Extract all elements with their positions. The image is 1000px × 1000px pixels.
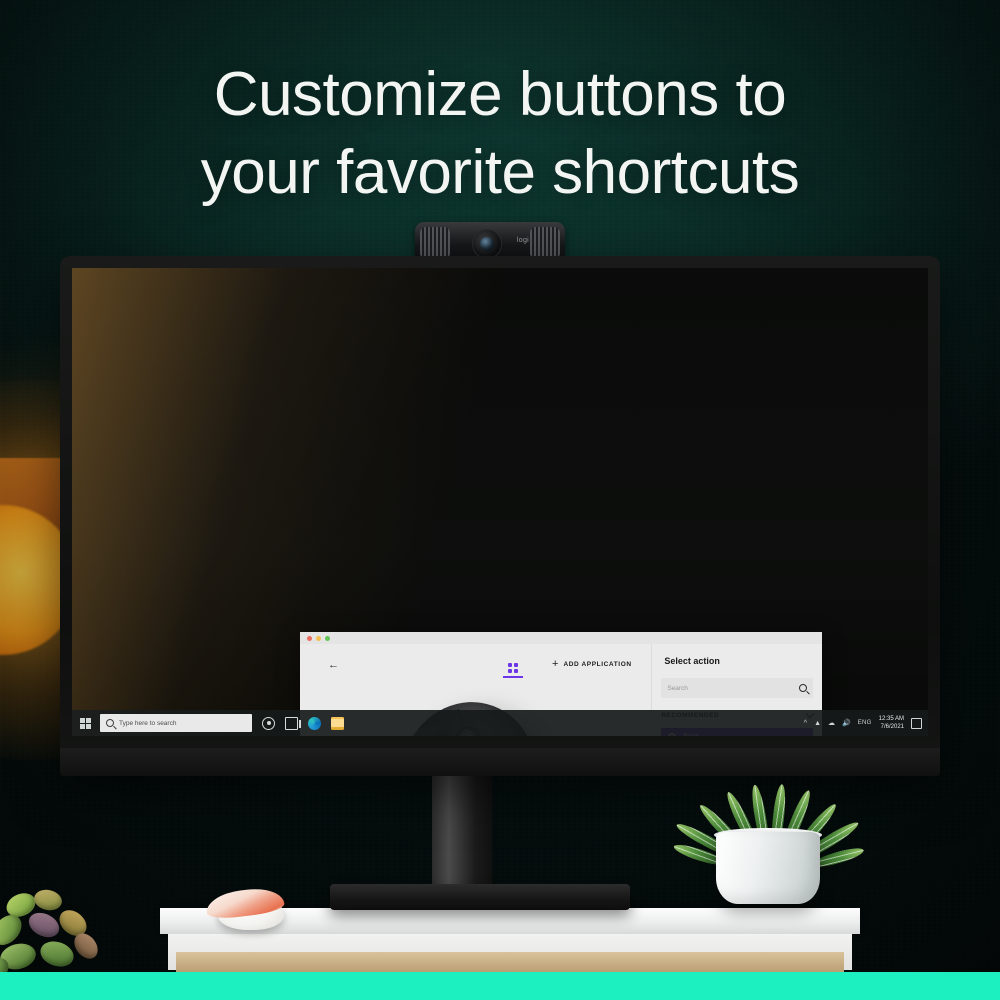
webcam-lens xyxy=(480,237,494,251)
minimize-button[interactable] xyxy=(316,636,321,641)
plant-pot xyxy=(716,832,820,904)
sushi-ornament xyxy=(200,888,296,932)
webcam-speaker-grill-right xyxy=(530,227,560,259)
microsoft-edge-icon[interactable] xyxy=(308,717,321,730)
page-title: Customize buttons to your favorite short… xyxy=(0,56,1000,212)
plus-icon: + xyxy=(552,659,558,670)
succulent-plant-right xyxy=(690,728,870,908)
monitor-stand-neck xyxy=(432,776,492,888)
headline-line-2: your favorite shortcuts xyxy=(0,134,1000,212)
monitor: ← + ADD APPLICATION xyxy=(60,256,940,776)
webcam-brand-logo: logi xyxy=(517,237,529,244)
cortana-icon[interactable] xyxy=(262,717,275,730)
windows-start-icon xyxy=(80,718,91,729)
monitor-stand-base xyxy=(330,884,630,910)
webcam-lens-ring xyxy=(472,229,502,259)
volume-icon[interactable]: 🔊 xyxy=(842,720,851,727)
taskbar-search-input[interactable]: Type here to search xyxy=(100,714,252,732)
taskbar-search-placeholder: Type here to search xyxy=(119,720,176,727)
windows-start-button[interactable] xyxy=(72,710,98,736)
taskbar-clock[interactable]: 12:35 AM 7/6/2021 xyxy=(879,715,904,731)
app-toolbar: ← + ADD APPLICATION xyxy=(300,644,651,684)
tab-active-indicator xyxy=(503,676,523,678)
search-icon[interactable] xyxy=(799,684,807,692)
network-icon[interactable]: ▲ xyxy=(814,720,821,727)
search-icon xyxy=(106,719,114,727)
language-indicator[interactable]: ENG xyxy=(858,720,872,726)
notifications-icon[interactable] xyxy=(911,718,922,729)
clock-time: 12:35 AM xyxy=(879,715,904,723)
window-controls[interactable] xyxy=(307,636,330,641)
add-application-label: ADD APPLICATION xyxy=(563,661,631,668)
close-button[interactable] xyxy=(307,636,312,641)
headline-line-1: Customize buttons to xyxy=(214,60,786,129)
search-placeholder: Search xyxy=(667,685,799,692)
product-lifestyle-image: Customize buttons to your favorite short… xyxy=(0,0,1000,1000)
maximize-button[interactable] xyxy=(325,636,330,641)
tab-applications[interactable] xyxy=(500,654,526,678)
file-explorer-icon[interactable] xyxy=(331,717,344,730)
chevron-up-icon[interactable]: ^ xyxy=(804,720,807,727)
taskbar-pinned-items xyxy=(262,717,344,730)
add-application-button[interactable]: + ADD APPLICATION xyxy=(552,659,632,670)
task-view-icon[interactable] xyxy=(285,717,298,730)
action-search-input[interactable]: Search xyxy=(661,678,813,698)
onedrive-icon[interactable]: ☁ xyxy=(828,720,835,727)
monitor-screen: ← + ADD APPLICATION xyxy=(72,268,928,736)
webcam-speaker-grill-left xyxy=(420,227,450,259)
desk-drawer xyxy=(176,952,844,974)
clock-date: 7/6/2021 xyxy=(879,723,904,731)
apps-grid-icon xyxy=(508,663,518,673)
bottom-banner xyxy=(0,972,1000,1000)
back-arrow-icon[interactable]: ← xyxy=(328,660,339,671)
panel-title: Select action xyxy=(664,656,720,666)
app-titlebar xyxy=(300,632,822,644)
